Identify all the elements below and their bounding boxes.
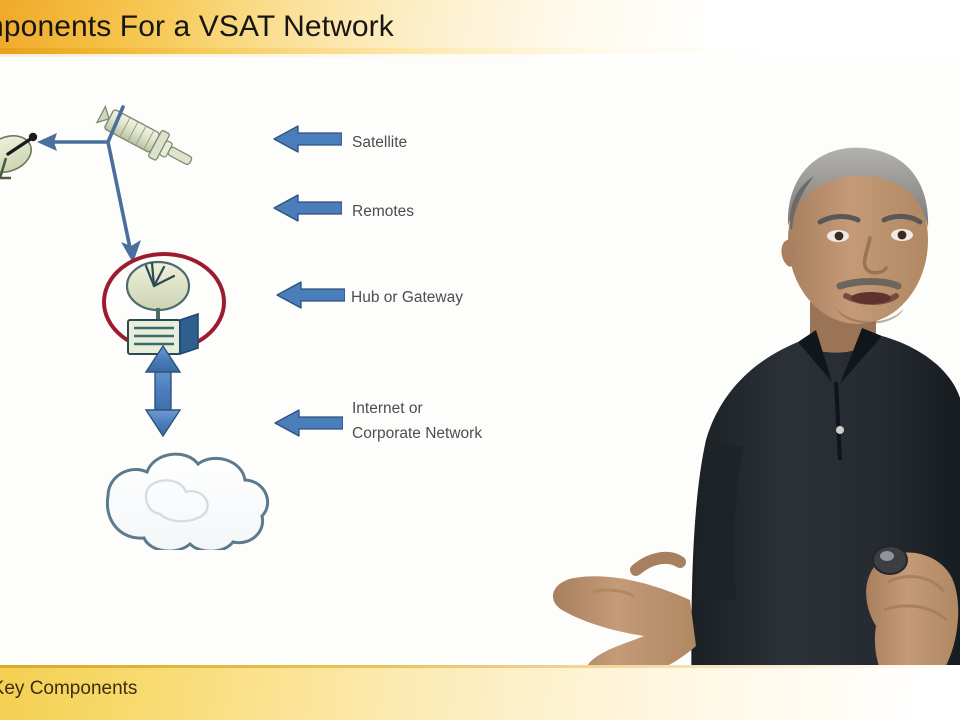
presentation-clicker-icon	[873, 546, 907, 574]
callout-label-remotes: Remotes	[352, 199, 414, 224]
callout-arrow-internet	[273, 409, 343, 437]
callout-label-internet-line2: Corporate Network	[352, 421, 482, 446]
hub-cloud-link-arrow	[146, 346, 180, 436]
presenter-head	[781, 148, 928, 324]
video-slide-frame: omponents For a VSAT Network	[0, 0, 960, 720]
callout-label-internet-line1: Internet or	[352, 396, 423, 421]
slide-title: omponents For a VSAT Network	[0, 10, 662, 44]
hub-gateway-icon	[127, 262, 198, 354]
network-cloud-icon	[107, 454, 267, 550]
presenter-video-overlay	[540, 130, 960, 720]
callout-arrow-remotes	[272, 194, 342, 222]
connector-arrowhead-left	[37, 133, 57, 151]
callout-label-satellite: Satellite	[352, 130, 407, 155]
callout-arrow-hub-gateway	[275, 281, 345, 309]
remote-dish-icon	[0, 129, 37, 179]
callout-label-hub-gateway: Hub or Gateway	[351, 285, 463, 310]
title-underline-secondary	[0, 54, 960, 57]
footer-text: ork Key Components	[0, 678, 460, 700]
callout-arrow-satellite	[272, 125, 342, 153]
